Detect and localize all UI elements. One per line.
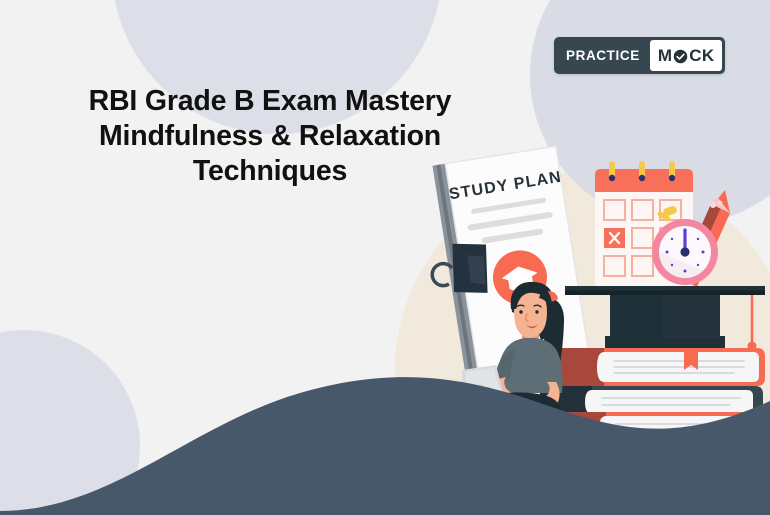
logo-mock-box: M CK: [650, 40, 723, 71]
headline-line-1: RBI Grade B Exam Mastery: [28, 84, 512, 119]
logo-mock-letters-ck: CK: [689, 47, 714, 64]
headline-line-3: Techniques: [28, 154, 512, 189]
clipboard-binder-clip: [432, 239, 493, 298]
page-title: RBI Grade B Exam Mastery Mindfulness & R…: [28, 84, 512, 188]
logo-mock-letter-m: M: [658, 47, 672, 64]
check-circle-icon: [673, 49, 688, 64]
logo-practice-text: PRACTICE: [557, 40, 650, 71]
calendar-marked-cell: [604, 228, 625, 248]
bottom-wave-shape: [0, 335, 770, 515]
headline-line-2: Mindfulness & Relaxation: [28, 119, 512, 154]
promotional-banner: STUDY PLAN: [0, 0, 770, 515]
practice-mock-logo[interactable]: PRACTICE M CK: [554, 37, 725, 74]
